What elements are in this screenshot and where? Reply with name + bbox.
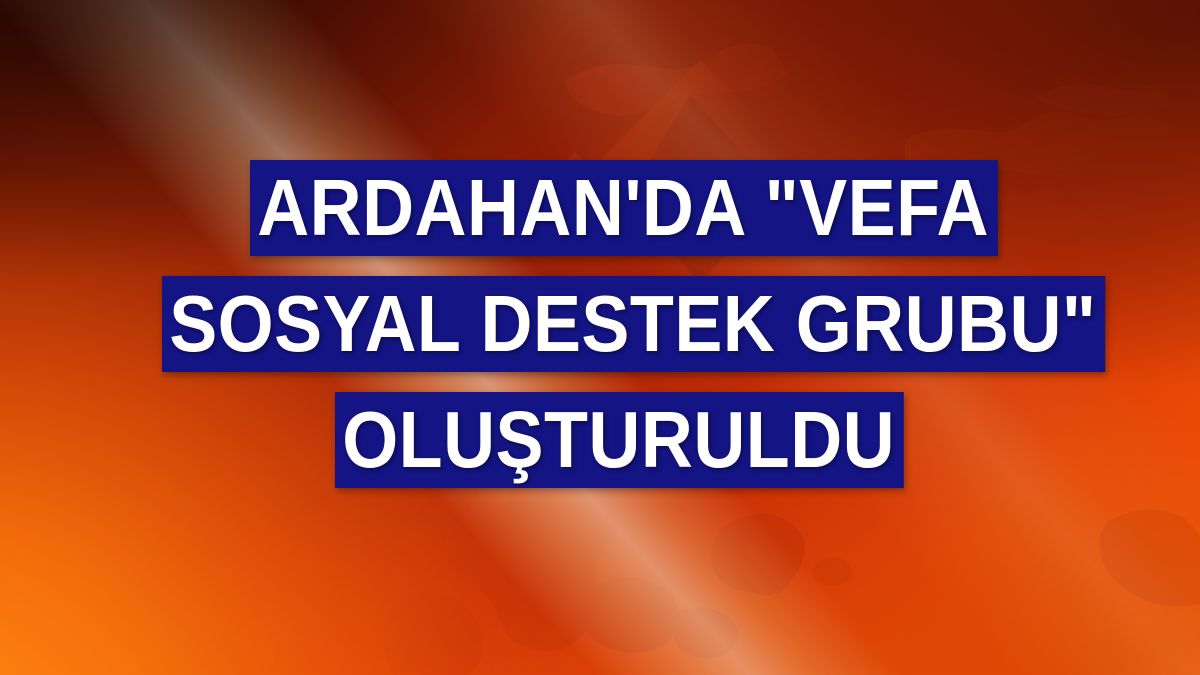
headline-line-3-row: OLUŞTURULDU — [0, 392, 1200, 488]
news-headline-card: ARDAHAN'DA "VEFA SOSYAL DESTEK GRUBU" OL… — [0, 0, 1200, 675]
headline-line-1-row: ARDAHAN'DA "VEFA — [0, 160, 1200, 256]
map-landmass-south — [383, 471, 805, 675]
map-landmass-mid — [565, 44, 789, 116]
headline-line-3: OLUŞTURULDU — [335, 392, 904, 488]
headline-block: ARDAHAN'DA "VEFA SOSYAL DESTEK GRUBU" OL… — [0, 160, 1200, 488]
headline-line-2-row: SOSYAL DESTEK GRUBU" — [0, 276, 1200, 372]
map-coastline-details — [470, 473, 853, 629]
headline-line-1: ARDAHAN'DA "VEFA — [250, 160, 998, 256]
headline-line-2: SOSYAL DESTEK GRUBU" — [162, 276, 1106, 372]
map-landmass-right — [1100, 509, 1200, 606]
